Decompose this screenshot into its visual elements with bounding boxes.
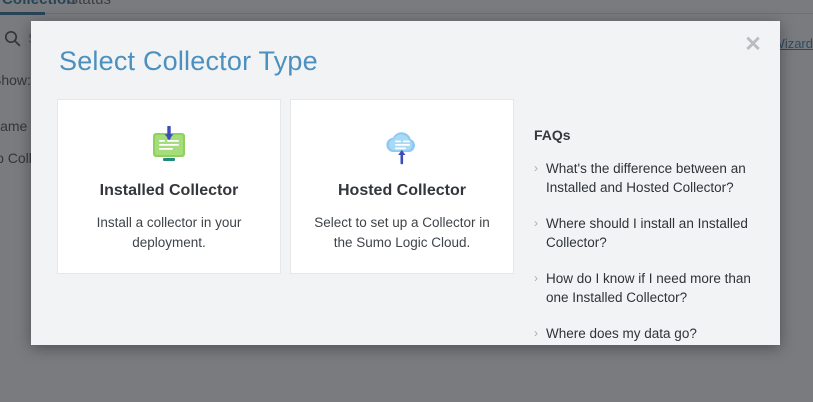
chevron-right-icon: › <box>534 159 546 178</box>
chevron-right-icon: › <box>534 269 546 288</box>
card-hosted-collector[interactable]: Hosted Collector Select to set up a Coll… <box>290 99 514 274</box>
faq-item-label: Where does my data go? <box>546 324 697 343</box>
faq-item[interactable]: › How do I know if I need more than one … <box>534 269 754 307</box>
faq-item[interactable]: › What's the difference between an Insta… <box>534 159 754 197</box>
faq-item[interactable]: › Where should I install an Installed Co… <box>534 214 754 252</box>
chevron-right-icon: › <box>534 324 546 343</box>
faqs-panel: FAQs › What's the difference between an … <box>534 127 754 360</box>
hosted-collector-icon <box>379 126 425 168</box>
faq-item[interactable]: › Where does my data go? <box>534 324 754 343</box>
card-installed-collector[interactable]: Installed Collector Install a collector … <box>57 99 281 274</box>
select-collector-type-dialog: ✕ Select Collector Type <box>31 21 780 345</box>
screen: Collection Status Search Show: A Name No… <box>0 0 813 402</box>
faq-item-label: Where should I install an Installed Coll… <box>546 214 754 252</box>
card-description: Select to set up a Collector in the Sumo… <box>312 213 492 253</box>
installed-collector-icon <box>146 126 192 168</box>
collector-type-cards: Installed Collector Install a collector … <box>57 99 514 274</box>
card-description: Install a collector in your deployment. <box>79 213 259 253</box>
chevron-right-icon: › <box>534 214 546 233</box>
close-icon[interactable]: ✕ <box>740 31 766 57</box>
card-title: Hosted Collector <box>338 182 466 200</box>
dialog-title: Select Collector Type <box>59 46 318 77</box>
faqs-heading: FAQs <box>534 127 754 143</box>
faq-item-label: How do I know if I need more than one In… <box>546 269 754 307</box>
faq-item-label: What's the difference between an Install… <box>546 159 754 197</box>
card-title: Installed Collector <box>100 182 239 200</box>
